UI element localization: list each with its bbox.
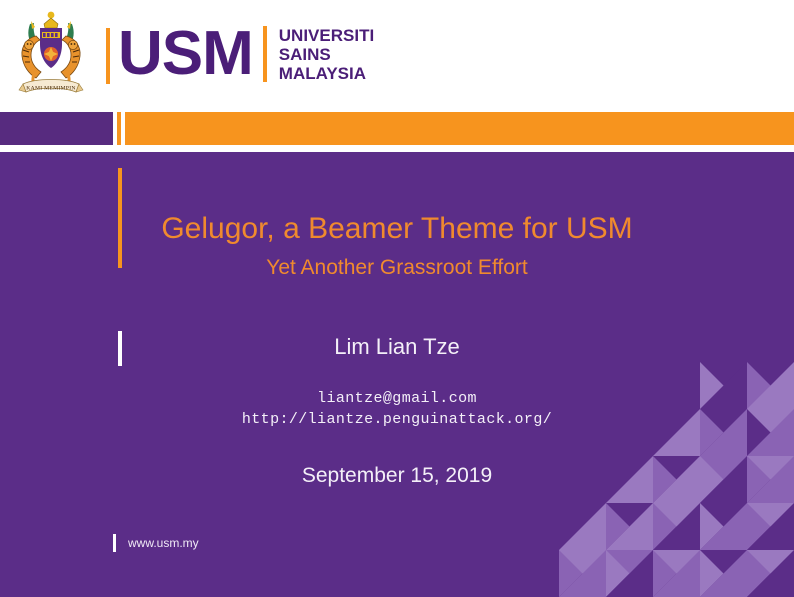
svg-text:KAMI MEMIMPIN: KAMI MEMIMPIN: [26, 86, 75, 92]
usm-name-line-2: SAINS: [279, 45, 374, 64]
header-band: KAMI MEMIMPIN USM UNIVERSITI SAINS MALAY…: [0, 0, 794, 112]
slide-date: September 15, 2019: [0, 462, 794, 490]
footer-accent-bar: [113, 534, 116, 552]
usm-name-line-3: MALAYSIA: [279, 64, 374, 83]
usm-name-line-1: UNIVERSITI: [279, 26, 374, 45]
header-band-orange-tick: [117, 112, 121, 145]
header-band-purple-segment: [0, 112, 113, 145]
slide-body: Gelugor, a Beamer Theme for USM Yet Anot…: [0, 152, 794, 597]
slide-subtitle: Yet Another Grassroot Effort: [0, 254, 794, 282]
title-block: Gelugor, a Beamer Theme for USM Yet Anot…: [0, 210, 794, 282]
slide-footer: www.usm.my: [113, 533, 199, 553]
usm-wordmark-divider: [263, 26, 267, 82]
usm-logo-group: KAMI MEMIMPIN USM UNIVERSITI SAINS MALAY…: [10, 8, 374, 100]
presentation-slide: KAMI MEMIMPIN USM UNIVERSITI SAINS MALAY…: [0, 0, 794, 597]
header-band-orange-segment: [125, 112, 794, 145]
slide-title: Gelugor, a Beamer Theme for USM: [0, 210, 794, 248]
author-block: Lim Lian Tze: [0, 332, 794, 362]
author-email[interactable]: liantze@gmail.com: [0, 388, 794, 409]
contact-block: liantze@gmail.com http://liantze.penguin…: [0, 388, 794, 430]
author-website[interactable]: http://liantze.penguinattack.org/: [0, 409, 794, 430]
usm-wordmark: USM UNIVERSITI SAINS MALAYSIA: [106, 21, 374, 87]
date-block: September 15, 2019: [0, 462, 794, 490]
usm-letters: USM: [106, 24, 253, 84]
usm-crest-icon: KAMI MEMIMPIN: [10, 8, 92, 100]
header-band-white-gap: [0, 145, 794, 152]
footer-url[interactable]: www.usm.my: [128, 534, 199, 552]
usm-university-name: UNIVERSITI SAINS MALAYSIA: [279, 26, 374, 83]
author-name: Lim Lian Tze: [0, 332, 794, 362]
